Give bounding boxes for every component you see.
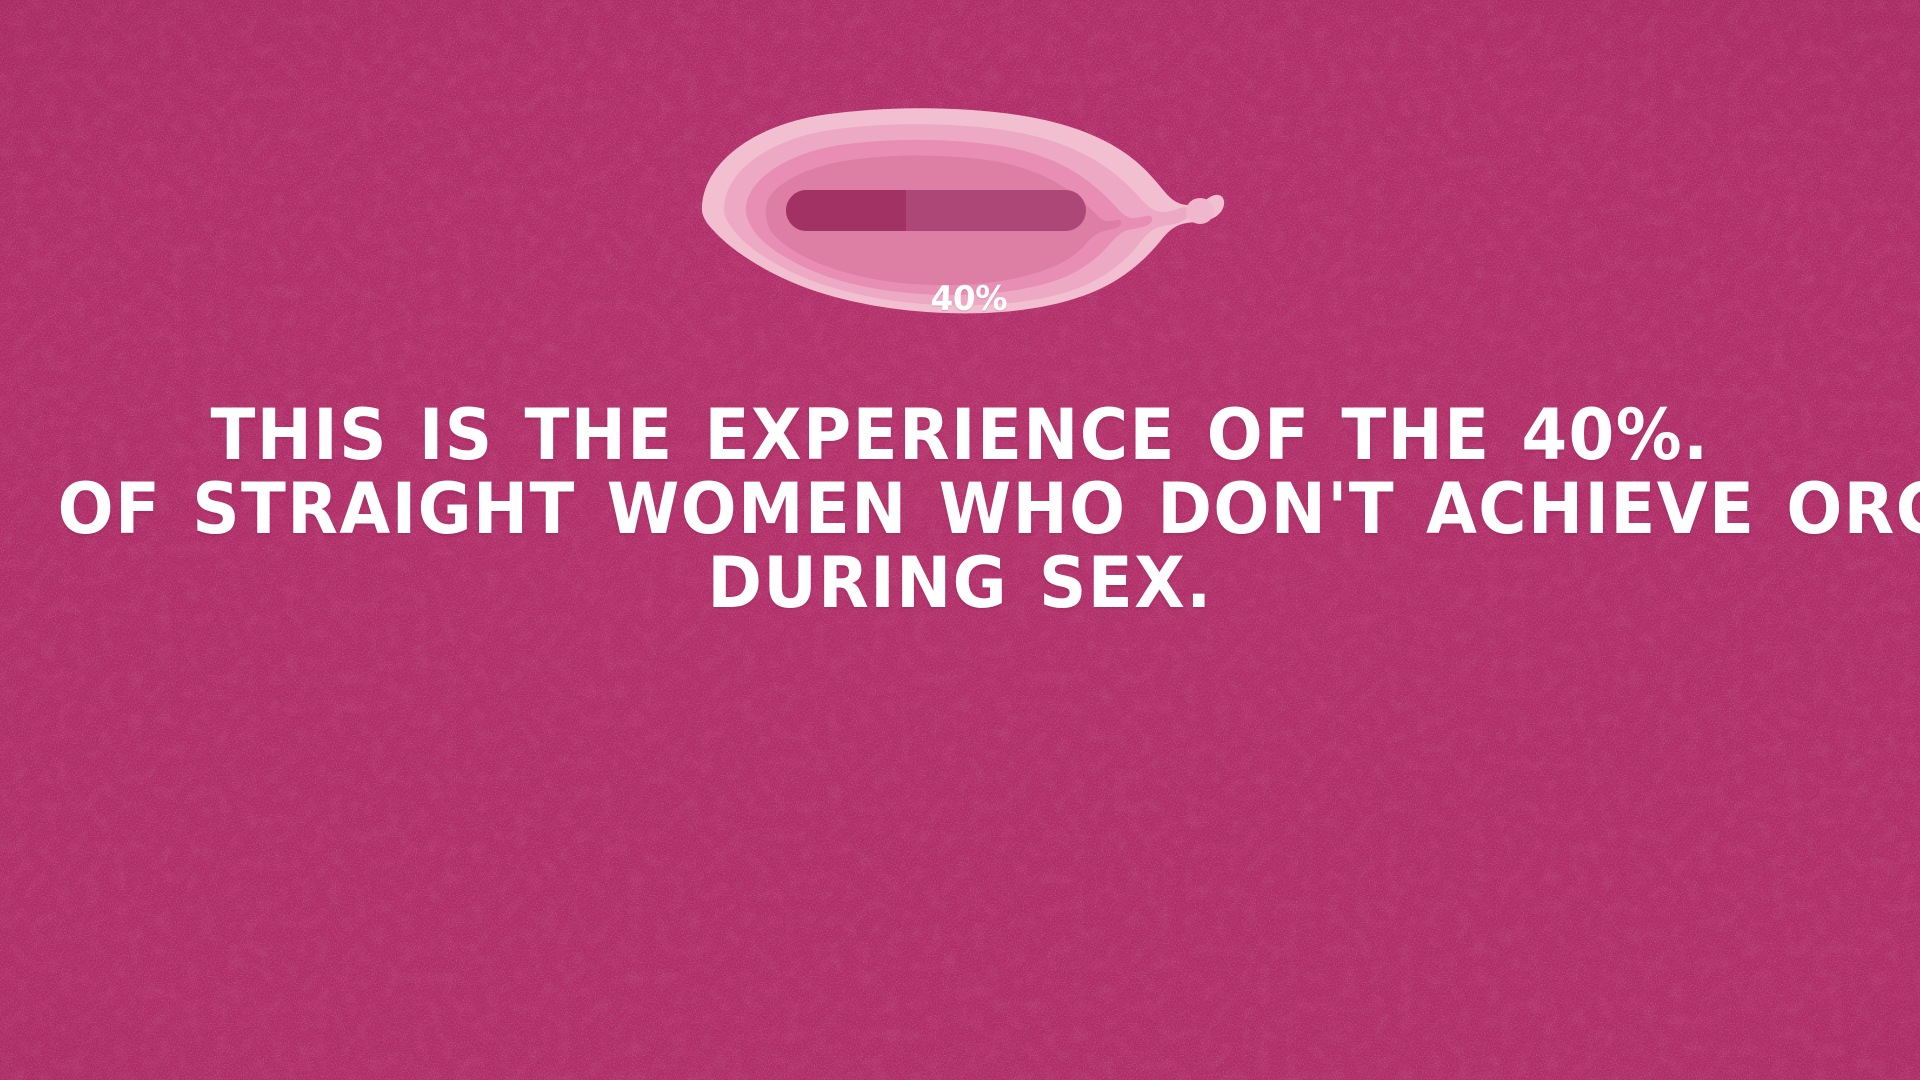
caption-line-1: THIS IS THE EXPERIENCE OF THE 40%. xyxy=(58,398,1863,472)
clitoral-hood-tip xyxy=(1186,198,1214,224)
vulva-progress-illustration: 40% xyxy=(0,95,1920,325)
caption-line-3: DURING SEX. xyxy=(58,546,1863,620)
progress-percent-label: 40% xyxy=(930,277,1008,321)
caption-block: THIS IS THE EXPERIENCE OF THE 40%. OF ST… xyxy=(0,398,1920,620)
progress-bar-fill xyxy=(786,190,906,231)
caption-line-2: OF STRAIGHT WOMEN WHO DON'T ACHIEVE ORGA… xyxy=(58,472,1863,546)
